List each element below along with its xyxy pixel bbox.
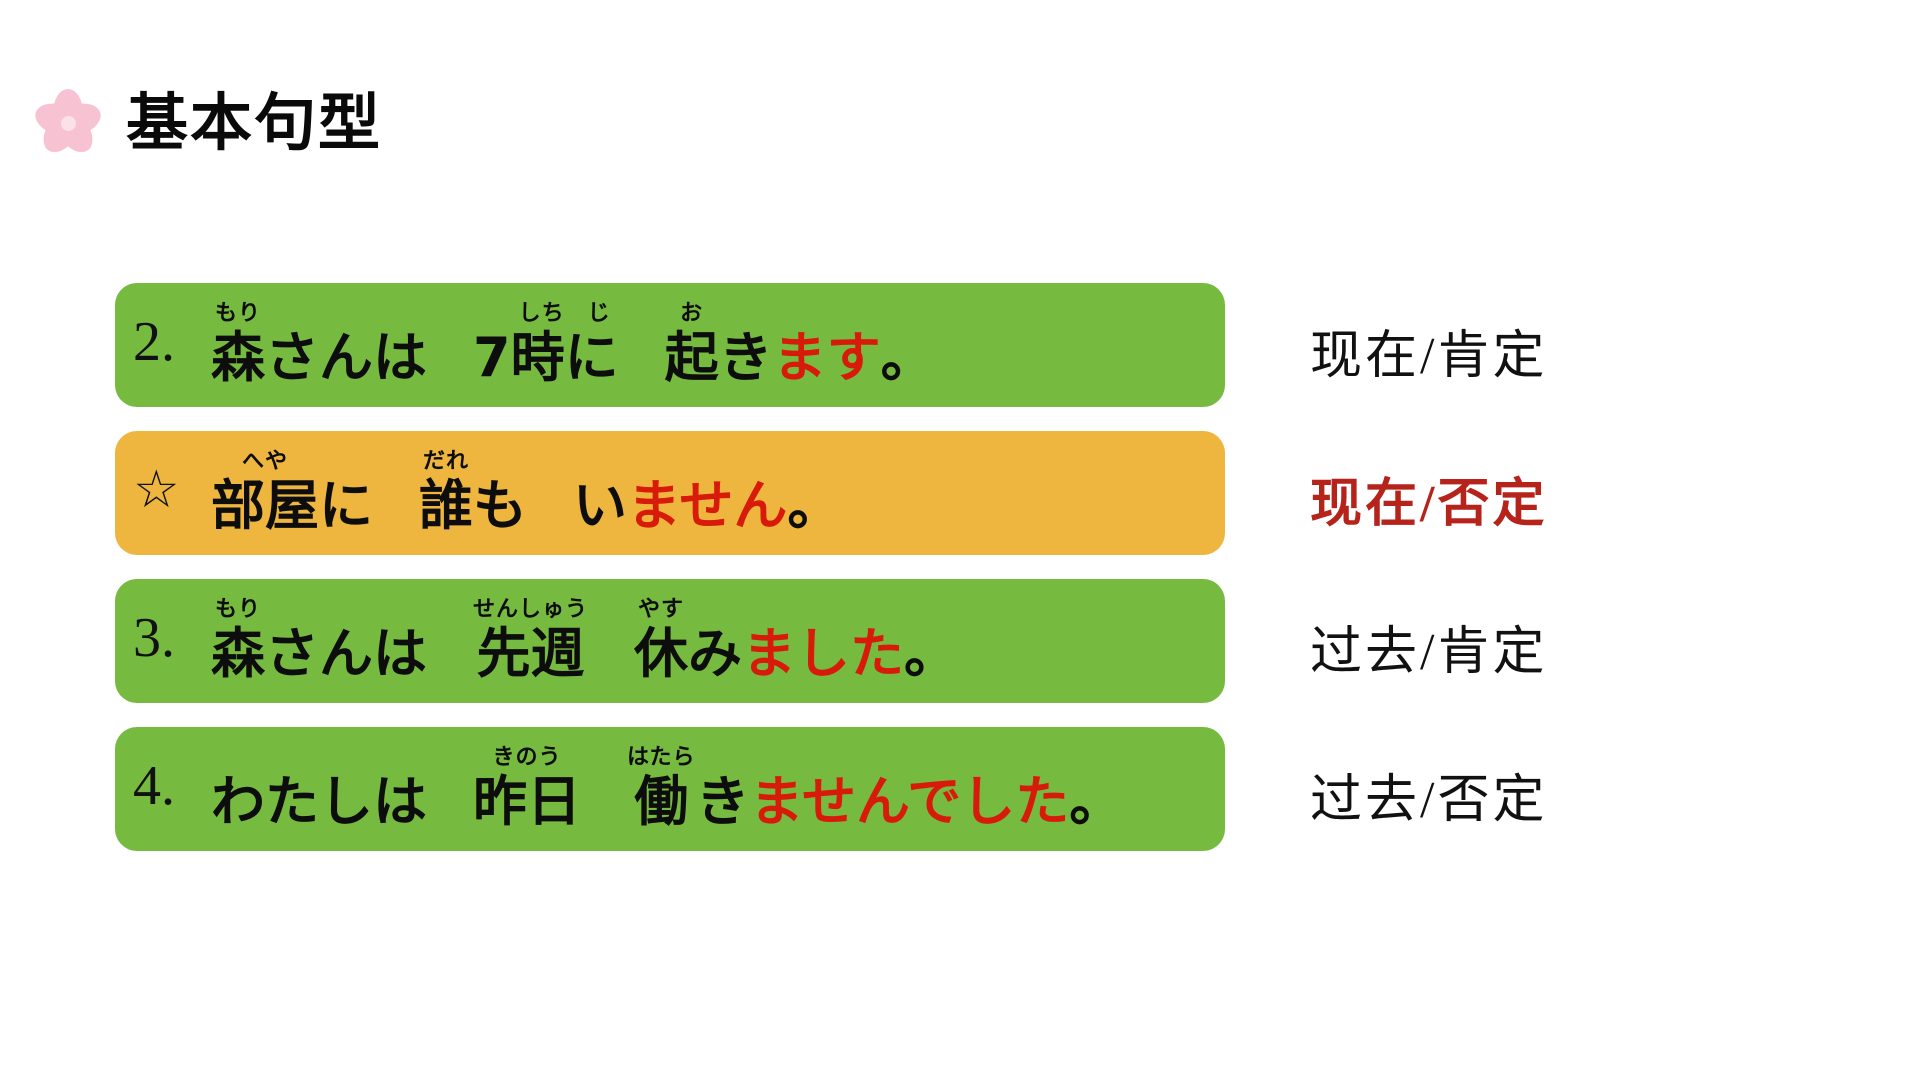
furigana-reading: だれ	[423, 451, 469, 477]
sentence-chunk: 7しち じ時に	[473, 303, 619, 387]
conjugation-ending: ませんでした	[750, 773, 1070, 831]
page-header: 基本句型	[32, 78, 382, 168]
sentence-chunk: もり森さんは	[211, 599, 427, 683]
sentence-text: さんは	[265, 625, 427, 683]
tense-polarity-label: 过去/否定	[1310, 757, 1547, 832]
ruby-token: 。	[881, 303, 935, 387]
sentence-pill[interactable]: 2.もり森さんは7しち じ時にお起きます。	[115, 283, 1225, 407]
sentence-chunk: はたら働きませんでした。	[627, 747, 1123, 831]
page-title: 基本句型	[126, 92, 382, 154]
ruby-token: さんは	[265, 303, 427, 387]
furigana-reading: やす	[638, 599, 684, 625]
japanese-sentence: わたしはきのう昨日はたら働きませんでした。	[211, 747, 1215, 831]
sentence-text: 時に	[511, 329, 619, 387]
japanese-sentence: へや部屋にだれ誰もいません。	[211, 451, 1215, 535]
sentence-text: み	[688, 625, 742, 683]
sentence-text: 。	[1069, 773, 1123, 831]
ruby-token: も	[473, 451, 527, 535]
conjugation-ending: ました	[742, 625, 904, 683]
sentence-row: ☆へや部屋にだれ誰もいません。现在/否定	[0, 423, 1920, 571]
sentence-chunk: きのう昨日	[473, 747, 581, 831]
sentence-text: に	[319, 477, 373, 535]
sentence-text: き	[696, 773, 750, 831]
sentence-text: 先週	[477, 625, 585, 683]
furigana-reading: せんしゅう	[473, 599, 588, 625]
ruby-token: み	[688, 599, 742, 683]
item-number: 2.	[133, 314, 211, 376]
sentence-text: 。	[904, 625, 958, 683]
ruby-token: へや部屋	[211, 451, 319, 535]
furigana-reading: もり	[215, 303, 261, 329]
ruby-token: わたしは	[211, 747, 427, 831]
sentence-text: 部屋	[211, 477, 319, 535]
sentence-chunk: もり森さんは	[211, 303, 427, 387]
ruby-token: 。	[1069, 747, 1123, 831]
sentence-text: 昨日	[473, 773, 581, 831]
sentence-text: 7	[473, 329, 511, 387]
sentence-chunk: だれ誰も	[419, 451, 527, 535]
ruby-token: ませんでした	[750, 747, 1070, 831]
ruby-token: 7	[473, 303, 511, 387]
sentence-text: き	[719, 329, 773, 387]
sentence-row: 3.もり森さんはせんしゅう先週やす休みました。过去/肯定	[0, 571, 1920, 719]
tense-polarity-label: 现在/否定	[1310, 461, 1547, 536]
sentence-pattern-list: 2.もり森さんは7しち じ時にお起きます。现在/肯定☆へや部屋にだれ誰もいません…	[0, 275, 1920, 867]
ruby-token: き	[696, 747, 750, 831]
furigana-reading: はたら	[627, 747, 696, 773]
sentence-text: 起	[665, 329, 719, 387]
ruby-token: だれ誰	[419, 451, 473, 535]
ruby-token: 。	[787, 451, 841, 535]
sentence-chunk: へや部屋に	[211, 451, 373, 535]
furigana-reading: お	[680, 303, 703, 329]
sentence-text: も	[473, 477, 527, 535]
ruby-token: しち じ時に	[511, 303, 619, 387]
ruby-token: ます	[773, 303, 881, 387]
ruby-token: もり森	[211, 599, 265, 683]
sentence-chunk: やす休みました。	[634, 599, 958, 683]
sentence-pill[interactable]: 4.わたしはきのう昨日はたら働きませんでした。	[115, 727, 1225, 851]
furigana-reading: きのう	[492, 747, 561, 773]
ruby-token: ました	[742, 599, 904, 683]
sentence-chunk: せんしゅう先週	[473, 599, 588, 683]
sentence-text: 。	[787, 477, 841, 535]
sentence-text: 休	[634, 625, 688, 683]
ruby-token: に	[319, 451, 373, 535]
sentence-chunk: お起きます。	[665, 303, 935, 387]
sentence-chunk: いません。	[573, 451, 841, 535]
sentence-text: 森	[211, 329, 265, 387]
sentence-text: わたしは	[211, 773, 427, 831]
furigana-reading: しち じ	[519, 303, 611, 329]
item-number: 3.	[133, 610, 211, 672]
star-marker-icon: ☆	[133, 464, 211, 522]
furigana-reading: へや	[242, 451, 288, 477]
sentence-text: 森	[211, 625, 265, 683]
sentence-chunk: わたしは	[211, 747, 427, 831]
sentence-text: 誰	[419, 477, 473, 535]
sentence-row: 2.もり森さんは7しち じ時にお起きます。现在/肯定	[0, 275, 1920, 423]
tense-polarity-label: 过去/肯定	[1310, 609, 1547, 684]
japanese-sentence: もり森さんは7しち じ時にお起きます。	[211, 303, 1215, 387]
sentence-row: 4.わたしはきのう昨日はたら働きませんでした。过去/否定	[0, 719, 1920, 867]
ruby-token: お起	[665, 303, 719, 387]
sentence-text: 。	[881, 329, 935, 387]
ruby-token: もり森	[211, 303, 265, 387]
sentence-pill[interactable]: ☆へや部屋にだれ誰もいません。	[115, 431, 1225, 555]
sentence-text: い	[573, 477, 627, 535]
furigana-reading: もり	[215, 599, 261, 625]
ruby-token: やす休	[634, 599, 688, 683]
conjugation-ending: ません	[627, 477, 787, 535]
sakura-flower-icon	[32, 87, 104, 159]
sentence-pill[interactable]: 3.もり森さんはせんしゅう先週やす休みました。	[115, 579, 1225, 703]
tense-polarity-label: 现在/肯定	[1310, 313, 1547, 388]
ruby-token: い	[573, 451, 627, 535]
sentence-text: 働	[634, 773, 688, 831]
conjugation-ending: ます	[773, 329, 881, 387]
japanese-sentence: もり森さんはせんしゅう先週やす休みました。	[211, 599, 1215, 683]
ruby-token: さんは	[265, 599, 427, 683]
ruby-token: き	[719, 303, 773, 387]
ruby-token: せんしゅう先週	[473, 599, 588, 683]
ruby-token: きのう昨日	[473, 747, 581, 831]
sentence-text: さんは	[265, 329, 427, 387]
ruby-token: ません	[627, 451, 787, 535]
item-number: 4.	[133, 758, 211, 820]
ruby-token: はたら働	[627, 747, 696, 831]
ruby-token: 。	[904, 599, 958, 683]
